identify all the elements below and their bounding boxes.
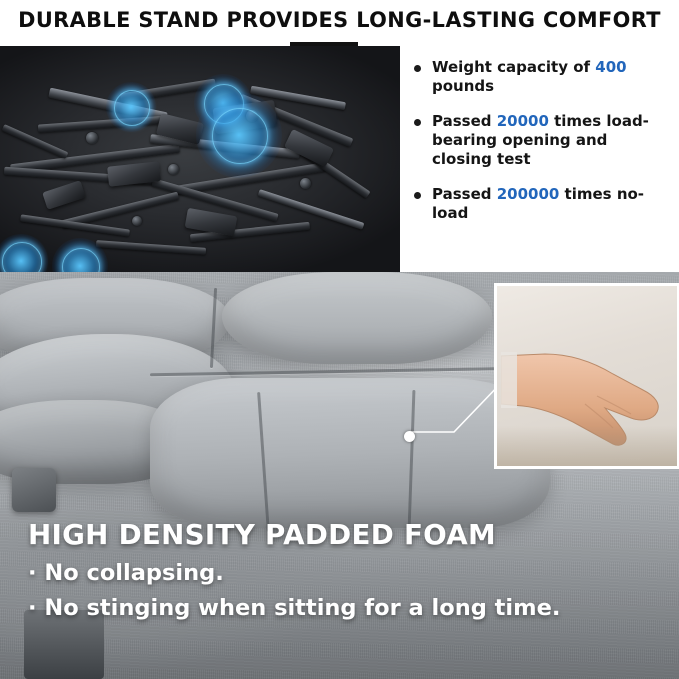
caption-title: HIGH DENSITY PADDED FOAM (28, 518, 672, 551)
bullet-text-before: Weight capacity of (432, 58, 595, 76)
caption-line: · No collapsing. (28, 560, 679, 586)
backrest-cushion-right (222, 272, 492, 364)
bottom-panel: HIGH DENSITY PADDED FOAM · No collapsing… (0, 272, 679, 679)
list-item: Passed 200000 times no-load (414, 185, 670, 223)
callout-dot (404, 431, 415, 442)
product-infographic: DURABLE STAND PROVIDES LONG-LASTING COMF… (0, 0, 679, 679)
callout-line (410, 380, 502, 440)
feature-bullet-list: Weight capacity of 400 pounds Passed 200… (414, 58, 670, 239)
page-title: DURABLE STAND PROVIDES LONG-LASTING COMF… (10, 8, 669, 33)
bullet-text: Passed 200000 times no-load (432, 185, 670, 223)
inset-shadow (497, 426, 677, 466)
list-item: Weight capacity of 400 pounds (414, 58, 670, 96)
bullet-number: 400 (595, 58, 626, 76)
caption-block: HIGH DENSITY PADDED FOAM · No collapsing… (0, 518, 679, 621)
list-item: Passed 20000 times load-bearing opening … (414, 112, 670, 169)
bullet-text-before: Passed (432, 185, 497, 203)
bullet-text: Passed 20000 times load-bearing opening … (432, 112, 670, 169)
top-panel: DURABLE STAND PROVIDES LONG-LASTING COMF… (0, 0, 679, 272)
bullet-number: 20000 (497, 112, 549, 130)
bullet-dot-icon (414, 65, 421, 72)
caption-line: · No stinging when sitting for a long ti… (28, 595, 679, 621)
foam-closeup-inset (494, 283, 679, 469)
bullet-dot-icon (414, 119, 421, 126)
recliner-mechanism-photo (0, 46, 400, 272)
bullet-number: 200000 (497, 185, 560, 203)
bullet-text: Weight capacity of 400 pounds (432, 58, 670, 96)
side-lever (12, 468, 56, 512)
bullet-text-before: Passed (432, 112, 497, 130)
bullet-text-after: pounds (432, 77, 494, 95)
bullet-dot-icon (414, 192, 421, 199)
